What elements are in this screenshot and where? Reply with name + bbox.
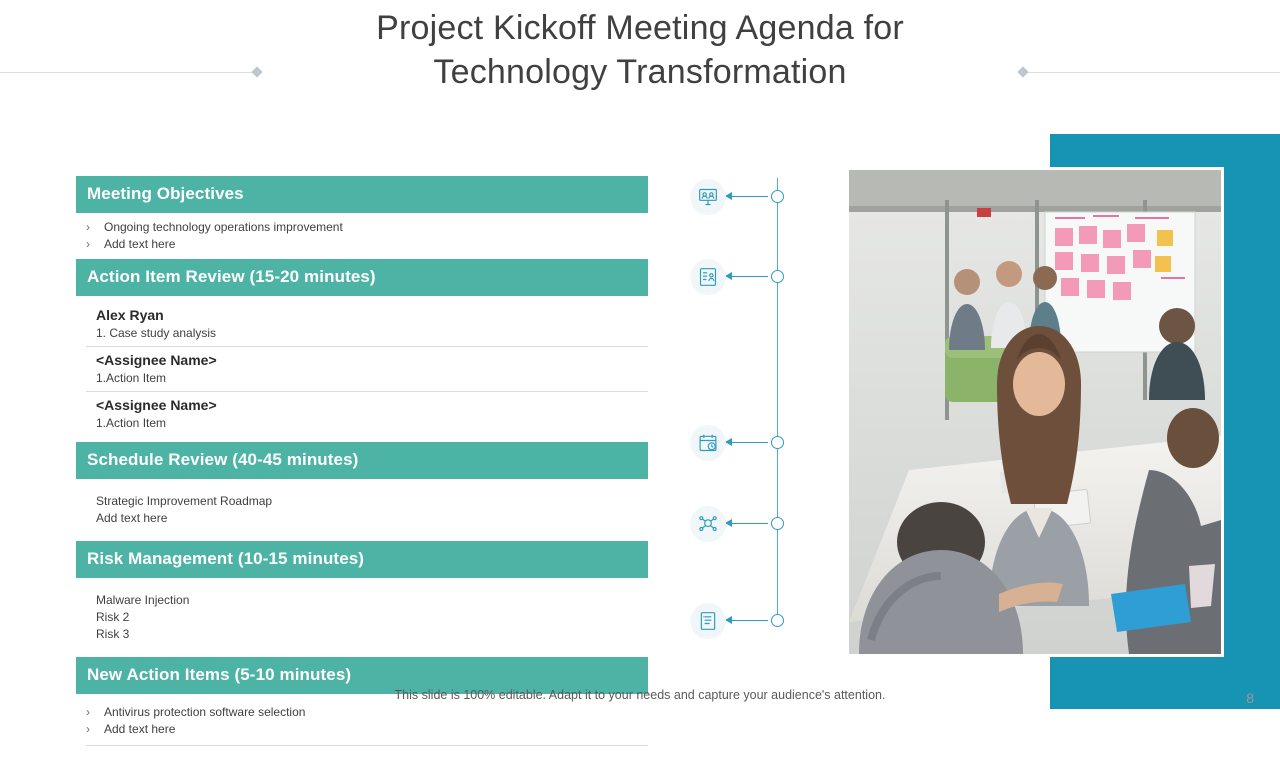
connector-arrow — [726, 620, 768, 621]
title-rule-left — [0, 72, 255, 73]
section-body-schedule-review: Strategic Improvement Roadmap Add text h… — [76, 479, 648, 541]
people-presentation-icon — [690, 179, 726, 215]
section-body-new-action-items: › Antivirus protection software selectio… — [76, 694, 648, 752]
assignee-action-item: 1.Action Item — [86, 370, 648, 387]
agenda-list: Meeting Objectives › Ongoing technology … — [76, 176, 648, 752]
connector-node — [771, 190, 784, 203]
team-meeting-photo — [846, 167, 1224, 657]
assignee-row: <Assignee Name> 1.Action Item — [86, 351, 648, 387]
list-item: › Ongoing technology operations improvem… — [86, 219, 648, 236]
footer-note: This slide is 100% editable. Adapt it to… — [0, 688, 1280, 702]
page-title: Project Kickoff Meeting Agenda for Techn… — [0, 0, 1280, 94]
connector-arrow — [726, 276, 768, 277]
chevron-right-icon: › — [86, 721, 104, 738]
photo-area — [846, 120, 1280, 695]
title-rule-right — [1025, 72, 1280, 73]
slide-title-area: Project Kickoff Meeting Agenda for Techn… — [0, 0, 1280, 100]
list-item: › Add text here — [86, 236, 648, 253]
section-body-meeting-objectives: › Ongoing technology operations improvem… — [76, 213, 648, 259]
connector-arrow — [726, 196, 768, 197]
section-header-risk-management: Risk Management (10-15 minutes) — [76, 541, 648, 578]
section-header-meeting-objectives: Meeting Objectives — [76, 176, 648, 213]
connector-node — [771, 270, 784, 283]
connector-vertical-line — [777, 178, 778, 618]
connector-arrow — [726, 523, 768, 524]
chevron-right-icon: › — [86, 704, 104, 721]
risk-network-icon — [690, 506, 726, 542]
section-header-action-item-review: Action Item Review (15-20 minutes) — [76, 259, 648, 296]
list-item-label: Ongoing technology operations improvemen… — [104, 219, 343, 236]
connector-node — [771, 517, 784, 530]
list-item-label: Strategic Improvement Roadmap — [86, 493, 648, 510]
row-divider — [86, 346, 648, 347]
assignee-name: <Assignee Name> — [86, 396, 648, 415]
list-item: › Antivirus protection software selectio… — [86, 704, 648, 721]
chevron-right-icon: › — [86, 236, 104, 253]
calendar-clock-icon — [690, 425, 726, 461]
list-item-label: Risk 2 — [86, 609, 648, 626]
connector-node — [771, 436, 784, 449]
chevron-right-icon: › — [86, 219, 104, 236]
row-divider — [86, 745, 648, 746]
connector-arrow — [726, 442, 768, 443]
section-header-schedule-review: Schedule Review (40-45 minutes) — [76, 442, 648, 479]
list-item-label: Add text here — [86, 510, 648, 527]
assignee-action-item: 1. Case study analysis — [86, 325, 648, 342]
assignee-row: <Assignee Name> 1.Action Item — [86, 396, 648, 432]
connector-node — [771, 614, 784, 627]
assignee-name: <Assignee Name> — [86, 351, 648, 370]
section-body-risk-management: Malware Injection Risk 2 Risk 3 — [76, 578, 648, 657]
list-item-label: Antivirus protection software selection — [104, 704, 305, 721]
document-list-icon — [690, 603, 726, 639]
page-number: 8 — [1246, 690, 1254, 706]
assignee-row: Alex Ryan 1. Case study analysis — [86, 306, 648, 342]
checklist-person-icon — [690, 259, 726, 295]
list-item: › Add text here — [86, 721, 648, 738]
list-item-label: Add text here — [104, 721, 175, 738]
page-title-line1: Project Kickoff Meeting Agenda for — [0, 6, 1280, 50]
row-divider — [86, 391, 648, 392]
assignee-action-item: 1.Action Item — [86, 415, 648, 432]
list-item-label: Risk 3 — [86, 626, 648, 643]
assignee-name: Alex Ryan — [86, 306, 648, 325]
list-item-label: Add text here — [104, 236, 175, 253]
list-item-label: Malware Injection — [86, 592, 648, 609]
section-body-action-item-review: Alex Ryan 1. Case study analysis <Assign… — [76, 296, 648, 442]
connector-column — [690, 170, 800, 640]
